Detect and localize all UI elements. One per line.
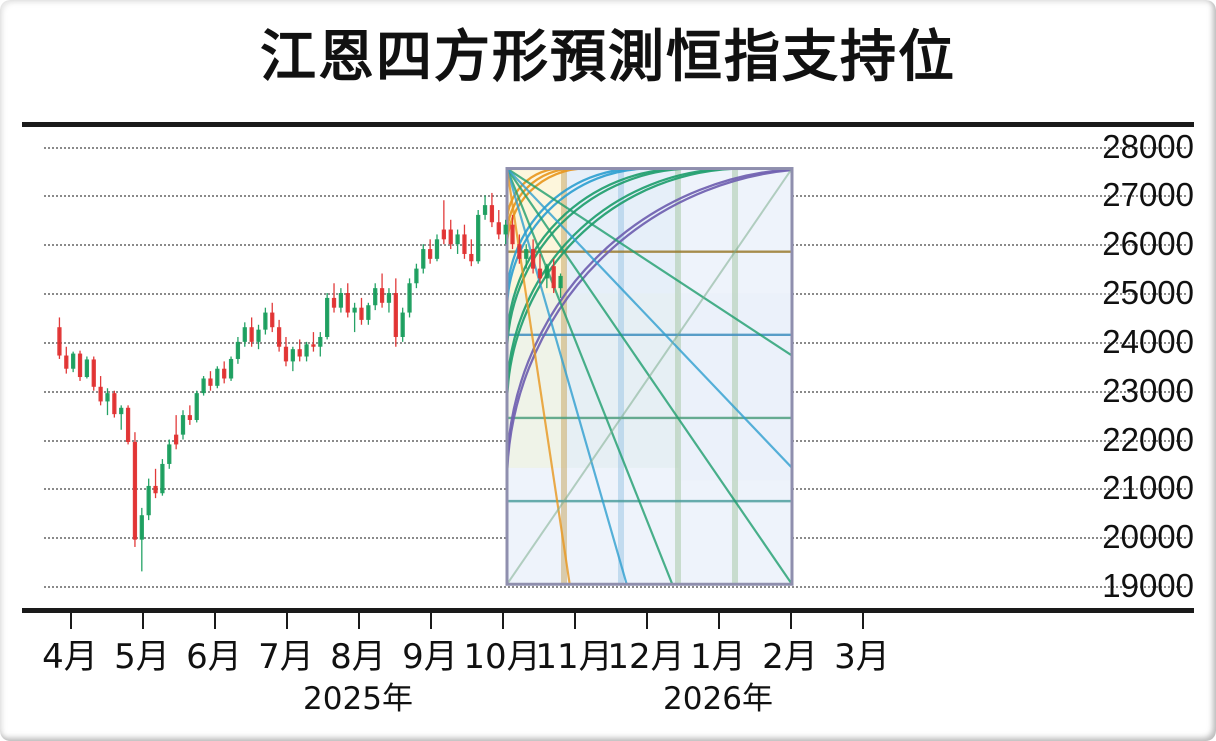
gann-inner: [507, 169, 822, 585]
candle-body: [373, 288, 377, 305]
candle-body: [105, 393, 109, 401]
candle-body: [174, 435, 178, 445]
candle-body: [71, 354, 75, 369]
x-tick-label: 11月: [535, 629, 612, 678]
candle-body: [552, 266, 556, 288]
candle-body: [517, 244, 521, 259]
candle-body: [215, 369, 219, 386]
candle-body: [394, 293, 398, 337]
x-tick: [358, 613, 360, 629]
candle-body: [483, 205, 487, 215]
x-tick-label: 9月: [402, 629, 458, 678]
candle-body: [250, 327, 254, 342]
plot-area: 1900020000210002200023000240002500026000…: [22, 127, 1194, 608]
candle-body: [160, 464, 164, 493]
x-tick: [70, 613, 72, 629]
gann-vertical-band: [618, 169, 624, 585]
candle-body: [263, 313, 267, 330]
candle-body: [469, 254, 473, 261]
x-tick-label: 2月: [762, 629, 818, 678]
y-tick-label: 28000: [1102, 128, 1194, 166]
candle-body: [380, 288, 384, 303]
x-tick: [286, 613, 288, 629]
candle-body: [243, 327, 247, 342]
candle-body: [476, 215, 480, 261]
x-year-label: 2026年: [663, 673, 773, 718]
candle-body: [524, 249, 528, 259]
x-tick: [430, 613, 432, 629]
candle-body: [545, 266, 549, 278]
candle-body: [298, 349, 302, 356]
candle-body: [167, 444, 171, 464]
candle-body: [195, 393, 199, 420]
x-tick-label: 7月: [258, 629, 314, 678]
candle-body: [277, 327, 281, 347]
x-tick: [862, 613, 864, 629]
candle-body: [421, 249, 425, 269]
candle-body: [387, 293, 391, 303]
candle-body: [442, 230, 446, 240]
y-tick-label: 25000: [1102, 274, 1194, 312]
candle-body: [558, 276, 562, 288]
x-tick: [790, 613, 792, 629]
candle-body: [64, 356, 68, 369]
candle-body: [407, 283, 411, 312]
candle-body: [352, 308, 356, 313]
x-tick-label: 6月: [186, 629, 242, 678]
page-title: 江恩四方形預測恒指支持位: [0, 24, 1216, 92]
chart-page: 江恩四方形預測恒指支持位 190002000021000220002300024…: [0, 0, 1216, 741]
candle-body: [449, 230, 453, 245]
x-tick-label: 8月: [330, 629, 386, 678]
x-tick: [646, 613, 648, 629]
candle-body: [119, 408, 123, 414]
candle-body: [462, 234, 466, 254]
candle-body: [304, 344, 308, 356]
candle-body: [435, 239, 439, 259]
candle-body: [346, 293, 350, 313]
candle-body: [359, 308, 363, 320]
candle-body: [291, 349, 295, 361]
candle-body: [504, 225, 508, 235]
candle-body: [140, 515, 144, 539]
candle-body: [366, 305, 370, 320]
y-tick-label: 27000: [1102, 176, 1194, 214]
x-tick-label: 1月: [690, 629, 746, 678]
candle-body: [538, 269, 542, 279]
candle-body: [236, 342, 240, 359]
candle-body: [401, 313, 405, 337]
y-tick-label: 19000: [1102, 567, 1194, 605]
y-tick-label: 26000: [1102, 225, 1194, 263]
gann-square: [507, 169, 822, 585]
y-tick-label: 20000: [1102, 518, 1194, 556]
chart-canvas: [22, 127, 1194, 608]
candle-body: [78, 354, 82, 377]
candle-body: [270, 313, 274, 328]
x-tick-label: 5月: [114, 629, 170, 678]
candle-body: [133, 442, 137, 540]
candle-body: [497, 222, 501, 234]
candle-body: [85, 359, 89, 377]
x-tick-label: 4月: [42, 629, 98, 678]
candle-body: [229, 359, 233, 379]
candle-body: [318, 337, 322, 347]
gann-vertical-band: [675, 169, 681, 585]
candle-body: [181, 415, 185, 435]
candle-body: [531, 249, 535, 269]
candle-body: [126, 408, 130, 442]
candle-body: [325, 298, 329, 337]
candle-body: [455, 234, 459, 244]
candle-body: [222, 369, 226, 379]
candle-body: [332, 298, 336, 308]
candle-body: [256, 330, 260, 342]
x-tick: [502, 613, 504, 629]
x-tick-label: 3月: [834, 629, 890, 678]
candle-body: [92, 359, 96, 386]
candle-body: [284, 347, 288, 362]
candle-body: [98, 387, 102, 402]
candle-body: [414, 269, 418, 284]
candle-body: [57, 327, 61, 355]
y-tick-label: 23000: [1102, 372, 1194, 410]
x-tick: [574, 613, 576, 629]
candlestick-series: [57, 193, 562, 571]
gann-vertical-band: [732, 169, 738, 585]
y-tick-label: 24000: [1102, 323, 1194, 361]
y-tick-label: 21000: [1102, 469, 1194, 507]
x-tick-label: 10月: [463, 629, 540, 678]
candle-body: [153, 486, 157, 493]
candle-body: [510, 225, 514, 245]
candle-body: [311, 344, 315, 346]
y-tick-label: 22000: [1102, 421, 1194, 459]
x-year-label: 2025年: [303, 673, 413, 718]
candle-body: [428, 249, 432, 259]
bottom-axis-rule: [22, 608, 1194, 613]
candle-body: [201, 378, 205, 393]
candle-body: [147, 486, 151, 515]
candle-body: [112, 393, 116, 414]
x-tick: [214, 613, 216, 629]
x-tick: [718, 613, 720, 629]
x-tick-label: 12月: [607, 629, 684, 678]
candle-body: [490, 205, 494, 222]
candle-body: [188, 415, 192, 420]
candle-body: [339, 293, 343, 308]
x-tick: [142, 613, 144, 629]
candle-body: [208, 378, 212, 385]
